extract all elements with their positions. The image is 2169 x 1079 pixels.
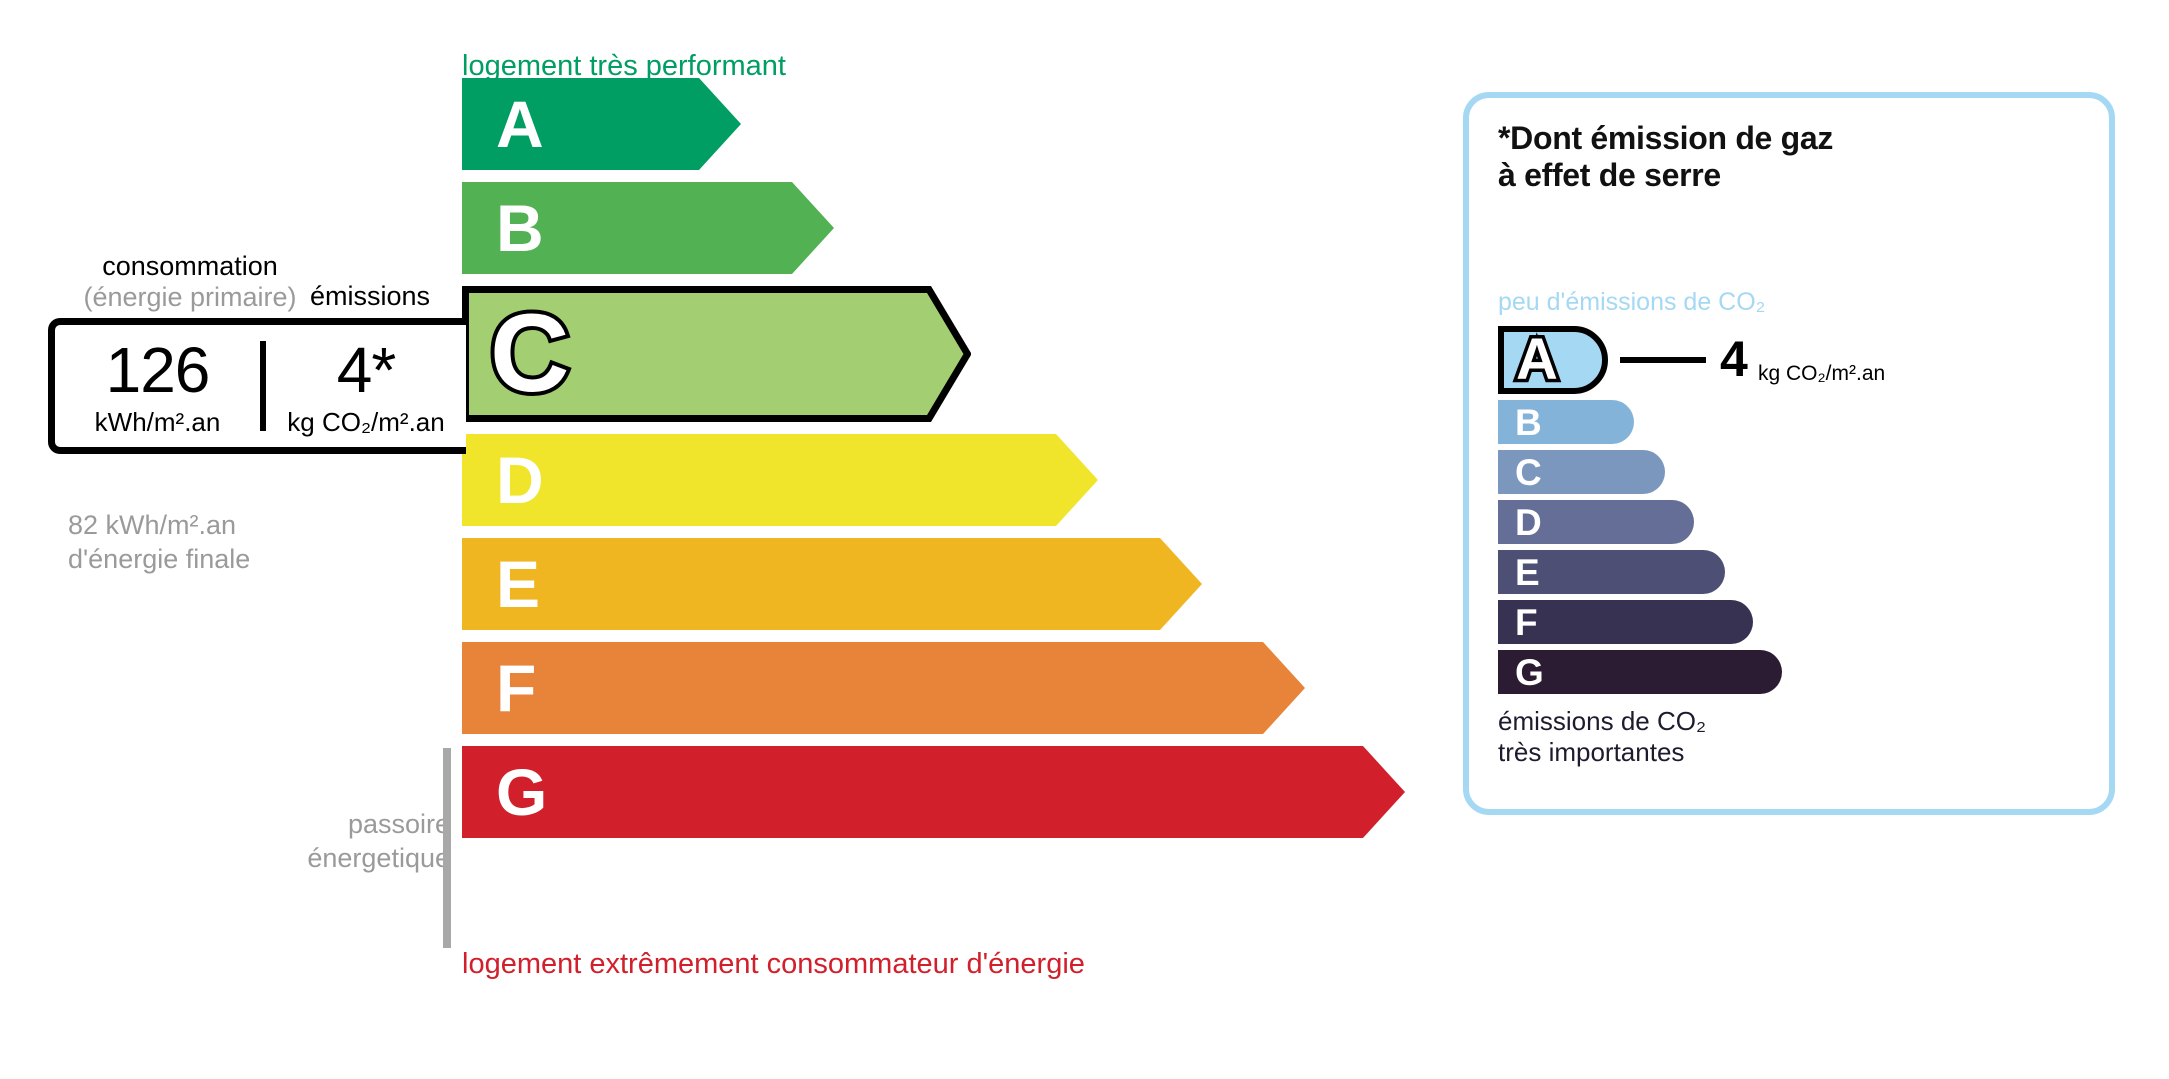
- energy-band-letter: F: [496, 655, 536, 721]
- energy-band-body: D: [462, 434, 1098, 526]
- primary-energy-cell: 126 kWh/m².an: [55, 325, 260, 447]
- passoire-energetique-label: passoire énergetique: [260, 808, 450, 876]
- co2-value-unit: kg CO₂/m².an: [1758, 363, 1885, 384]
- primary-energy-unit: kWh/m².an: [95, 409, 221, 435]
- final-energy-line2: d'énergie finale: [68, 542, 250, 576]
- energy-band-c: C: [462, 286, 971, 422]
- energy-band-body: A: [462, 78, 741, 170]
- co2-title-line2: à effet de serre: [1498, 157, 1833, 194]
- co2-panel-title: *Dont émission de gaz à effet de serre: [1498, 120, 1833, 195]
- co2-top-caption: peu d'émissions de CO₂: [1498, 288, 1765, 317]
- co2-band-a: A: [1498, 326, 1608, 394]
- final-energy-caption: 82 kWh/m².an d'énergie finale: [68, 508, 250, 577]
- emission-cell: 4* kg CO₂/m².an: [266, 325, 466, 447]
- co2-band-letter: G: [1515, 654, 1544, 691]
- energy-band-body: E: [462, 538, 1202, 630]
- energy-band-arrow-shape: [462, 538, 1202, 630]
- co2-band-e: E: [1498, 550, 1725, 594]
- energy-band-letter: G: [496, 759, 547, 825]
- passoire-indicator-bar: [443, 748, 451, 948]
- energy-band-b: B: [462, 182, 834, 274]
- energy-band-a: A: [462, 78, 741, 170]
- co2-bottom-caption-line1: émissions de CO₂: [1498, 706, 1706, 737]
- emission-unit: kg CO₂/m².an: [287, 409, 444, 435]
- energy-band-body: G: [462, 746, 1405, 838]
- co2-band-bar: E: [1498, 550, 1725, 594]
- final-energy-line1: 82 kWh/m².an: [68, 508, 250, 542]
- co2-band-b: B: [1498, 400, 1634, 444]
- co2-band-letter: E: [1515, 554, 1540, 591]
- passoire-line1: passoire: [260, 808, 450, 842]
- co2-value: 4: [1720, 334, 1748, 384]
- energy-band-arrow-shape: [462, 642, 1305, 734]
- co2-band-bar: B: [1498, 400, 1634, 444]
- energy-band-g: G: [462, 746, 1405, 838]
- co2-band-bar: F: [1498, 600, 1753, 644]
- passoire-line2: énergetique: [260, 842, 450, 876]
- consumption-caption-line1: consommation: [70, 251, 310, 282]
- energy-band-e: E: [462, 538, 1202, 630]
- co2-title-line1: *Dont émission de gaz: [1498, 120, 1833, 157]
- co2-band-d: D: [1498, 500, 1694, 544]
- co2-connector-line: [1620, 357, 1706, 363]
- energy-consumption-scale: logement très performant ABCDEFG logemen…: [0, 0, 1330, 1079]
- energy-band-f: F: [462, 642, 1305, 734]
- consumption-caption-line2: (énergie primaire): [70, 282, 310, 313]
- energy-band-letter: D: [496, 447, 544, 513]
- energy-band-letter: A: [496, 91, 544, 157]
- co2-band-letter: A: [1516, 331, 1558, 389]
- co2-band-letter: D: [1515, 504, 1542, 541]
- energy-band-arrow-shape: [462, 434, 1098, 526]
- co2-band-f: F: [1498, 600, 1753, 644]
- energy-band-body: C: [462, 286, 971, 422]
- co2-band-letter: C: [1515, 454, 1542, 491]
- energy-band-letter: C: [490, 299, 569, 409]
- dpe-label-root: logement très performant ABCDEFG logemen…: [0, 0, 2169, 1079]
- co2-band-bar: C: [1498, 450, 1665, 494]
- co2-band-bar: G: [1498, 650, 1782, 694]
- co2-emissions-panel: *Dont émission de gaz à effet de serre p…: [1463, 92, 2115, 815]
- emissions-caption: émissions: [310, 281, 430, 312]
- co2-band-g: G: [1498, 650, 1782, 694]
- energy-band-letter: E: [496, 551, 540, 617]
- co2-band-letter: B: [1515, 404, 1542, 441]
- primary-energy-value: 126: [106, 338, 210, 402]
- co2-bottom-caption-line2: très importantes: [1498, 737, 1706, 768]
- scale-bottom-caption: logement extrêmement consommateur d'éner…: [462, 948, 1085, 981]
- co2-bottom-caption: émissions de CO₂ très importantes: [1498, 706, 1706, 768]
- energy-band-d: D: [462, 434, 1098, 526]
- emission-value: 4*: [337, 338, 396, 402]
- energy-band-letter: B: [496, 195, 544, 261]
- consumption-caption: consommation (énergie primaire): [70, 251, 310, 312]
- energy-band-body: B: [462, 182, 834, 274]
- value-readout-box: 126 kWh/m².an 4* kg CO₂/m².an: [48, 318, 466, 454]
- co2-band-letter: F: [1515, 604, 1538, 641]
- energy-band-body: F: [462, 642, 1305, 734]
- co2-band-bar: D: [1498, 500, 1694, 544]
- co2-band-c: C: [1498, 450, 1665, 494]
- energy-band-arrow-shape: [462, 746, 1405, 838]
